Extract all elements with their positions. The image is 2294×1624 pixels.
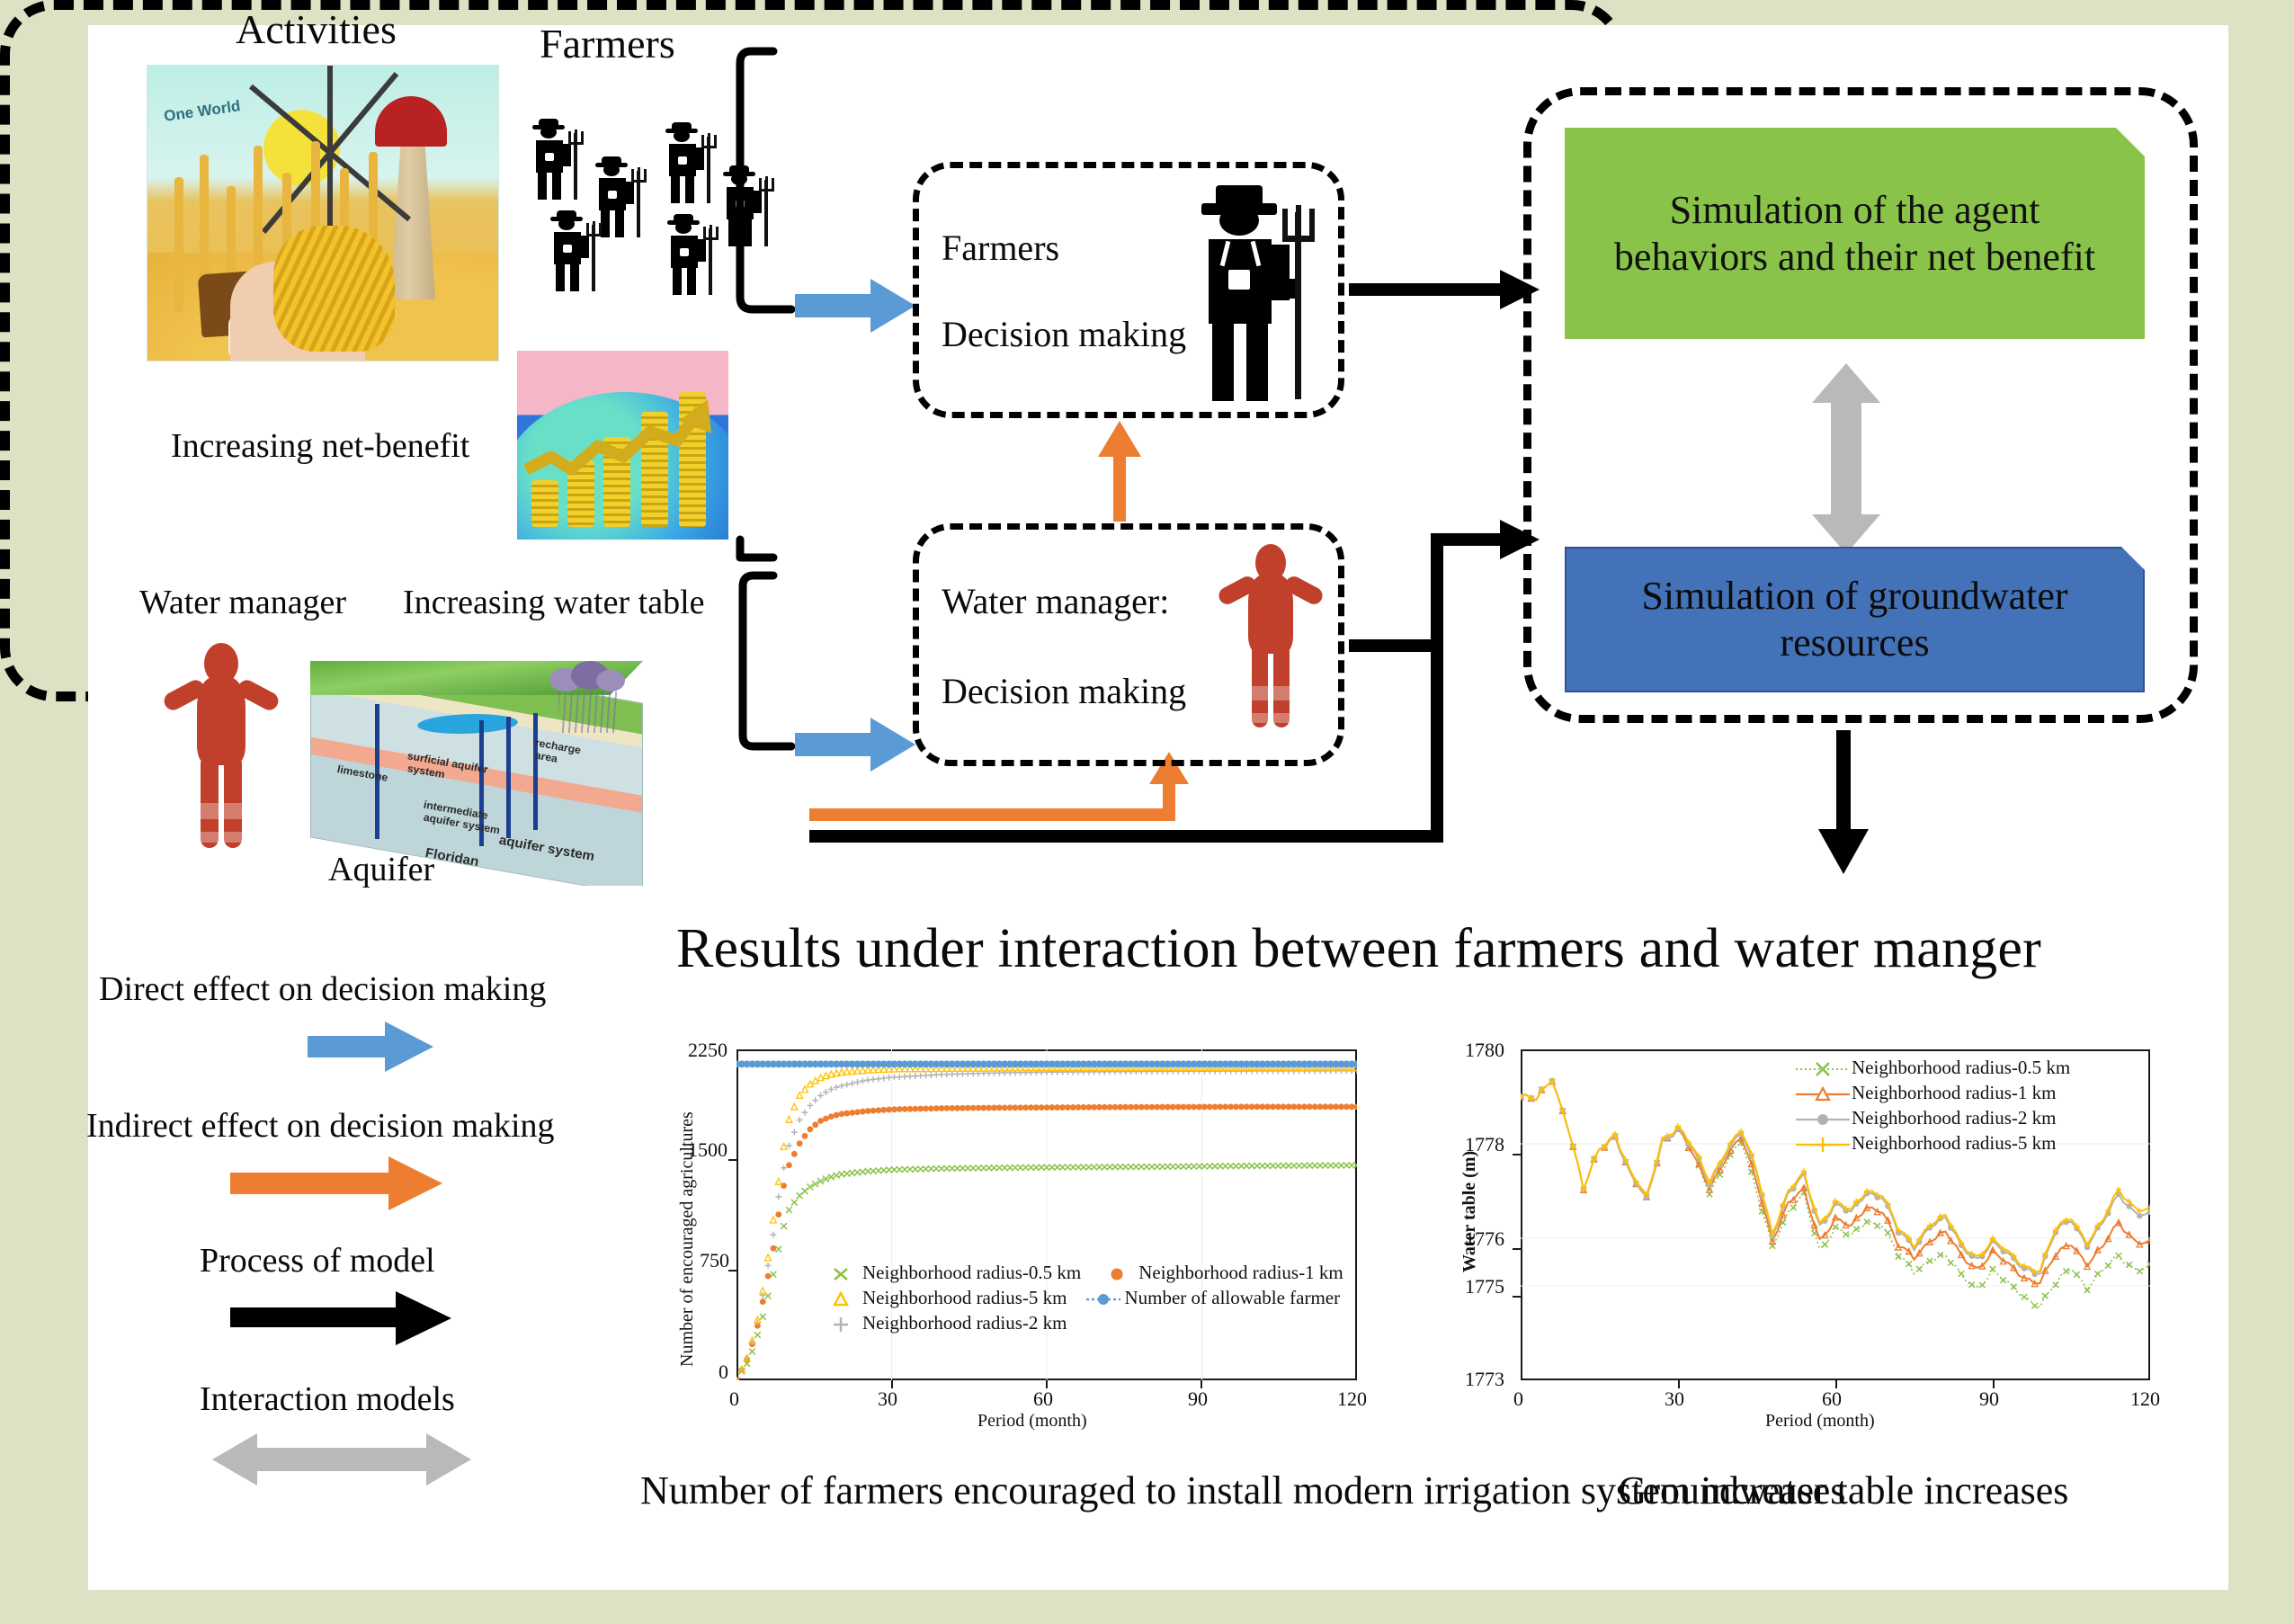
results-title: Results under interaction between farmer…	[676, 917, 2041, 981]
chart1-xtick: 120	[1337, 1388, 1367, 1411]
legend-process-of-model-label: Process of model	[200, 1241, 496, 1280]
chart1-xtick: 60	[1033, 1388, 1053, 1411]
blue-arrow-right-icon	[99, 1009, 486, 1084]
legend-key-marker	[1794, 1084, 1852, 1102]
water-manager-figure-icon	[1216, 544, 1324, 728]
water-manager-figure	[157, 643, 283, 850]
activities-title: Activities	[236, 5, 397, 53]
farmer-pictogram-icon	[549, 209, 603, 291]
farmer-pictogram-icon	[664, 120, 718, 203]
chart2-xtick: 120	[2130, 1388, 2160, 1411]
chart1-legend-label: Neighborhood radius-1 km	[1138, 1262, 1343, 1284]
chart1-ytick: 750	[700, 1249, 729, 1272]
legend-indirect-effect: Indirect effect on decision making	[86, 1106, 555, 1225]
chart-water-table: 1780 1778 1776 1775 1773 0 30 60 90 120 …	[1443, 1039, 2181, 1434]
chart1-xtick: 30	[878, 1388, 897, 1411]
chart2-xtick: 90	[1979, 1388, 1999, 1411]
farmers-box-line2: Decision making	[942, 313, 1186, 355]
chart-encouraged-agricultures: 2250 1500 750 0 0 30 60 90 120 Period (m…	[661, 1039, 1371, 1434]
farmer-icon-group	[531, 99, 827, 310]
activities-photo-caption: One World	[163, 96, 242, 126]
chart2-ytick: 1773	[1465, 1368, 1504, 1391]
legend-key-marker	[1794, 1059, 1852, 1077]
chart1-xlabel: Period (month)	[977, 1411, 1087, 1432]
chart2-xtick: 30	[1665, 1388, 1684, 1411]
caption-left: Number of farmers encouraged to install …	[640, 1466, 1387, 1516]
black-arrow-right-icon	[200, 1280, 496, 1358]
legend-direct-effect: Direct effect on decision making	[99, 969, 546, 1084]
water-manager-box-line1: Water manager:	[942, 580, 1169, 622]
gray-double-arrow-icon	[200, 1419, 505, 1500]
legend-key-marker	[821, 1264, 862, 1282]
legend-key-marker	[821, 1315, 862, 1333]
chart2-legend-label: Neighborhood radius-5 km	[1852, 1132, 2056, 1155]
activities-photo: One World	[147, 65, 499, 361]
chart1-ylabel: Number of encouraged agricultures	[677, 1111, 698, 1367]
growth-arrow-icon	[524, 394, 713, 478]
legend-key-marker	[1794, 1110, 1852, 1128]
chart2-xlabel: Period (month)	[1765, 1411, 1875, 1432]
water-manager-label: Water manager	[139, 583, 346, 622]
farmer-pictogram-icon	[531, 117, 585, 200]
legend-indirect-effect-label: Indirect effect on decision making	[86, 1106, 555, 1146]
chart2-ytick: 1775	[1465, 1275, 1504, 1298]
legend-key-marker	[1794, 1135, 1852, 1153]
legend-process-of-model: Process of model	[200, 1241, 496, 1358]
rain-cloud-icon	[549, 661, 627, 693]
legend-key-marker	[1083, 1289, 1124, 1307]
chart1-xtick: 0	[729, 1388, 739, 1411]
agent-simulation-box: Simulation of the agent behaviors and th…	[1565, 128, 2145, 339]
chart1-legend-label: Number of allowable farmer	[1124, 1287, 1340, 1309]
legend-direct-effect-label: Direct effect on decision making	[99, 969, 546, 1009]
orange-arrow-right-icon	[86, 1146, 482, 1225]
legend-key-marker	[1097, 1264, 1138, 1282]
increasing-water-table-label: Increasing water table	[403, 583, 705, 622]
chart2-legend-label: Neighborhood radius-1 km	[1852, 1082, 2056, 1104]
chart2-ytick: 1780	[1465, 1039, 1504, 1062]
water-manager-box-line2: Decision making	[942, 670, 1186, 712]
chart1-legend-label: Neighborhood radius-5 km	[862, 1287, 1067, 1309]
chart2-xtick: 60	[1822, 1388, 1842, 1411]
legend-interaction-models: Interaction models	[200, 1379, 505, 1500]
legend-key-marker	[821, 1289, 862, 1307]
chart2-legend: Neighborhood radius-0.5 km Neighborhood …	[1794, 1057, 2070, 1157]
chart2-xtick: 0	[1513, 1388, 1523, 1411]
chart1-legend-label: Neighborhood radius-2 km	[862, 1312, 1067, 1334]
chart1-ytick: 2250	[688, 1039, 727, 1062]
increasing-net-benefit-label: Increasing net-benefit	[171, 426, 469, 466]
farmers-title: Farmers	[540, 20, 675, 67]
chart1-legend: Neighborhood radius-0.5 km Neighborhood …	[821, 1262, 1343, 1337]
groundwater-simulation-label: Simulation of groundwater resources	[1584, 573, 2126, 666]
agent-simulation-label: Simulation of the agent behaviors and th…	[1588, 187, 2121, 281]
legend-interaction-models-label: Interaction models	[200, 1379, 505, 1419]
chart2-ylabel: Water table (m)	[1459, 1151, 1480, 1272]
farmer-pictogram-icon	[665, 212, 719, 295]
chart1-ytick: 0	[719, 1361, 728, 1384]
chart2-legend-label: Neighborhood radius-2 km	[1852, 1107, 2056, 1129]
chart1-xtick: 90	[1188, 1388, 1208, 1411]
net-benefit-photo	[517, 351, 728, 540]
groundwater-simulation-box: Simulation of groundwater resources	[1565, 547, 2145, 692]
aquifer-label: Aquifer	[328, 850, 434, 889]
chart1-legend-label: Neighborhood radius-0.5 km	[862, 1262, 1081, 1284]
farmers-box-line1: Farmers	[942, 227, 1059, 269]
infographic-canvas: Activities One World Increasing net-bene…	[0, 0, 2294, 1624]
chart2-legend-label: Neighborhood radius-0.5 km	[1852, 1057, 2070, 1079]
caption-right: Groundwater table increases	[1529, 1466, 2158, 1516]
farmer-with-pitchfork-icon	[1196, 180, 1308, 403]
farmer-pictogram-icon	[721, 164, 775, 246]
